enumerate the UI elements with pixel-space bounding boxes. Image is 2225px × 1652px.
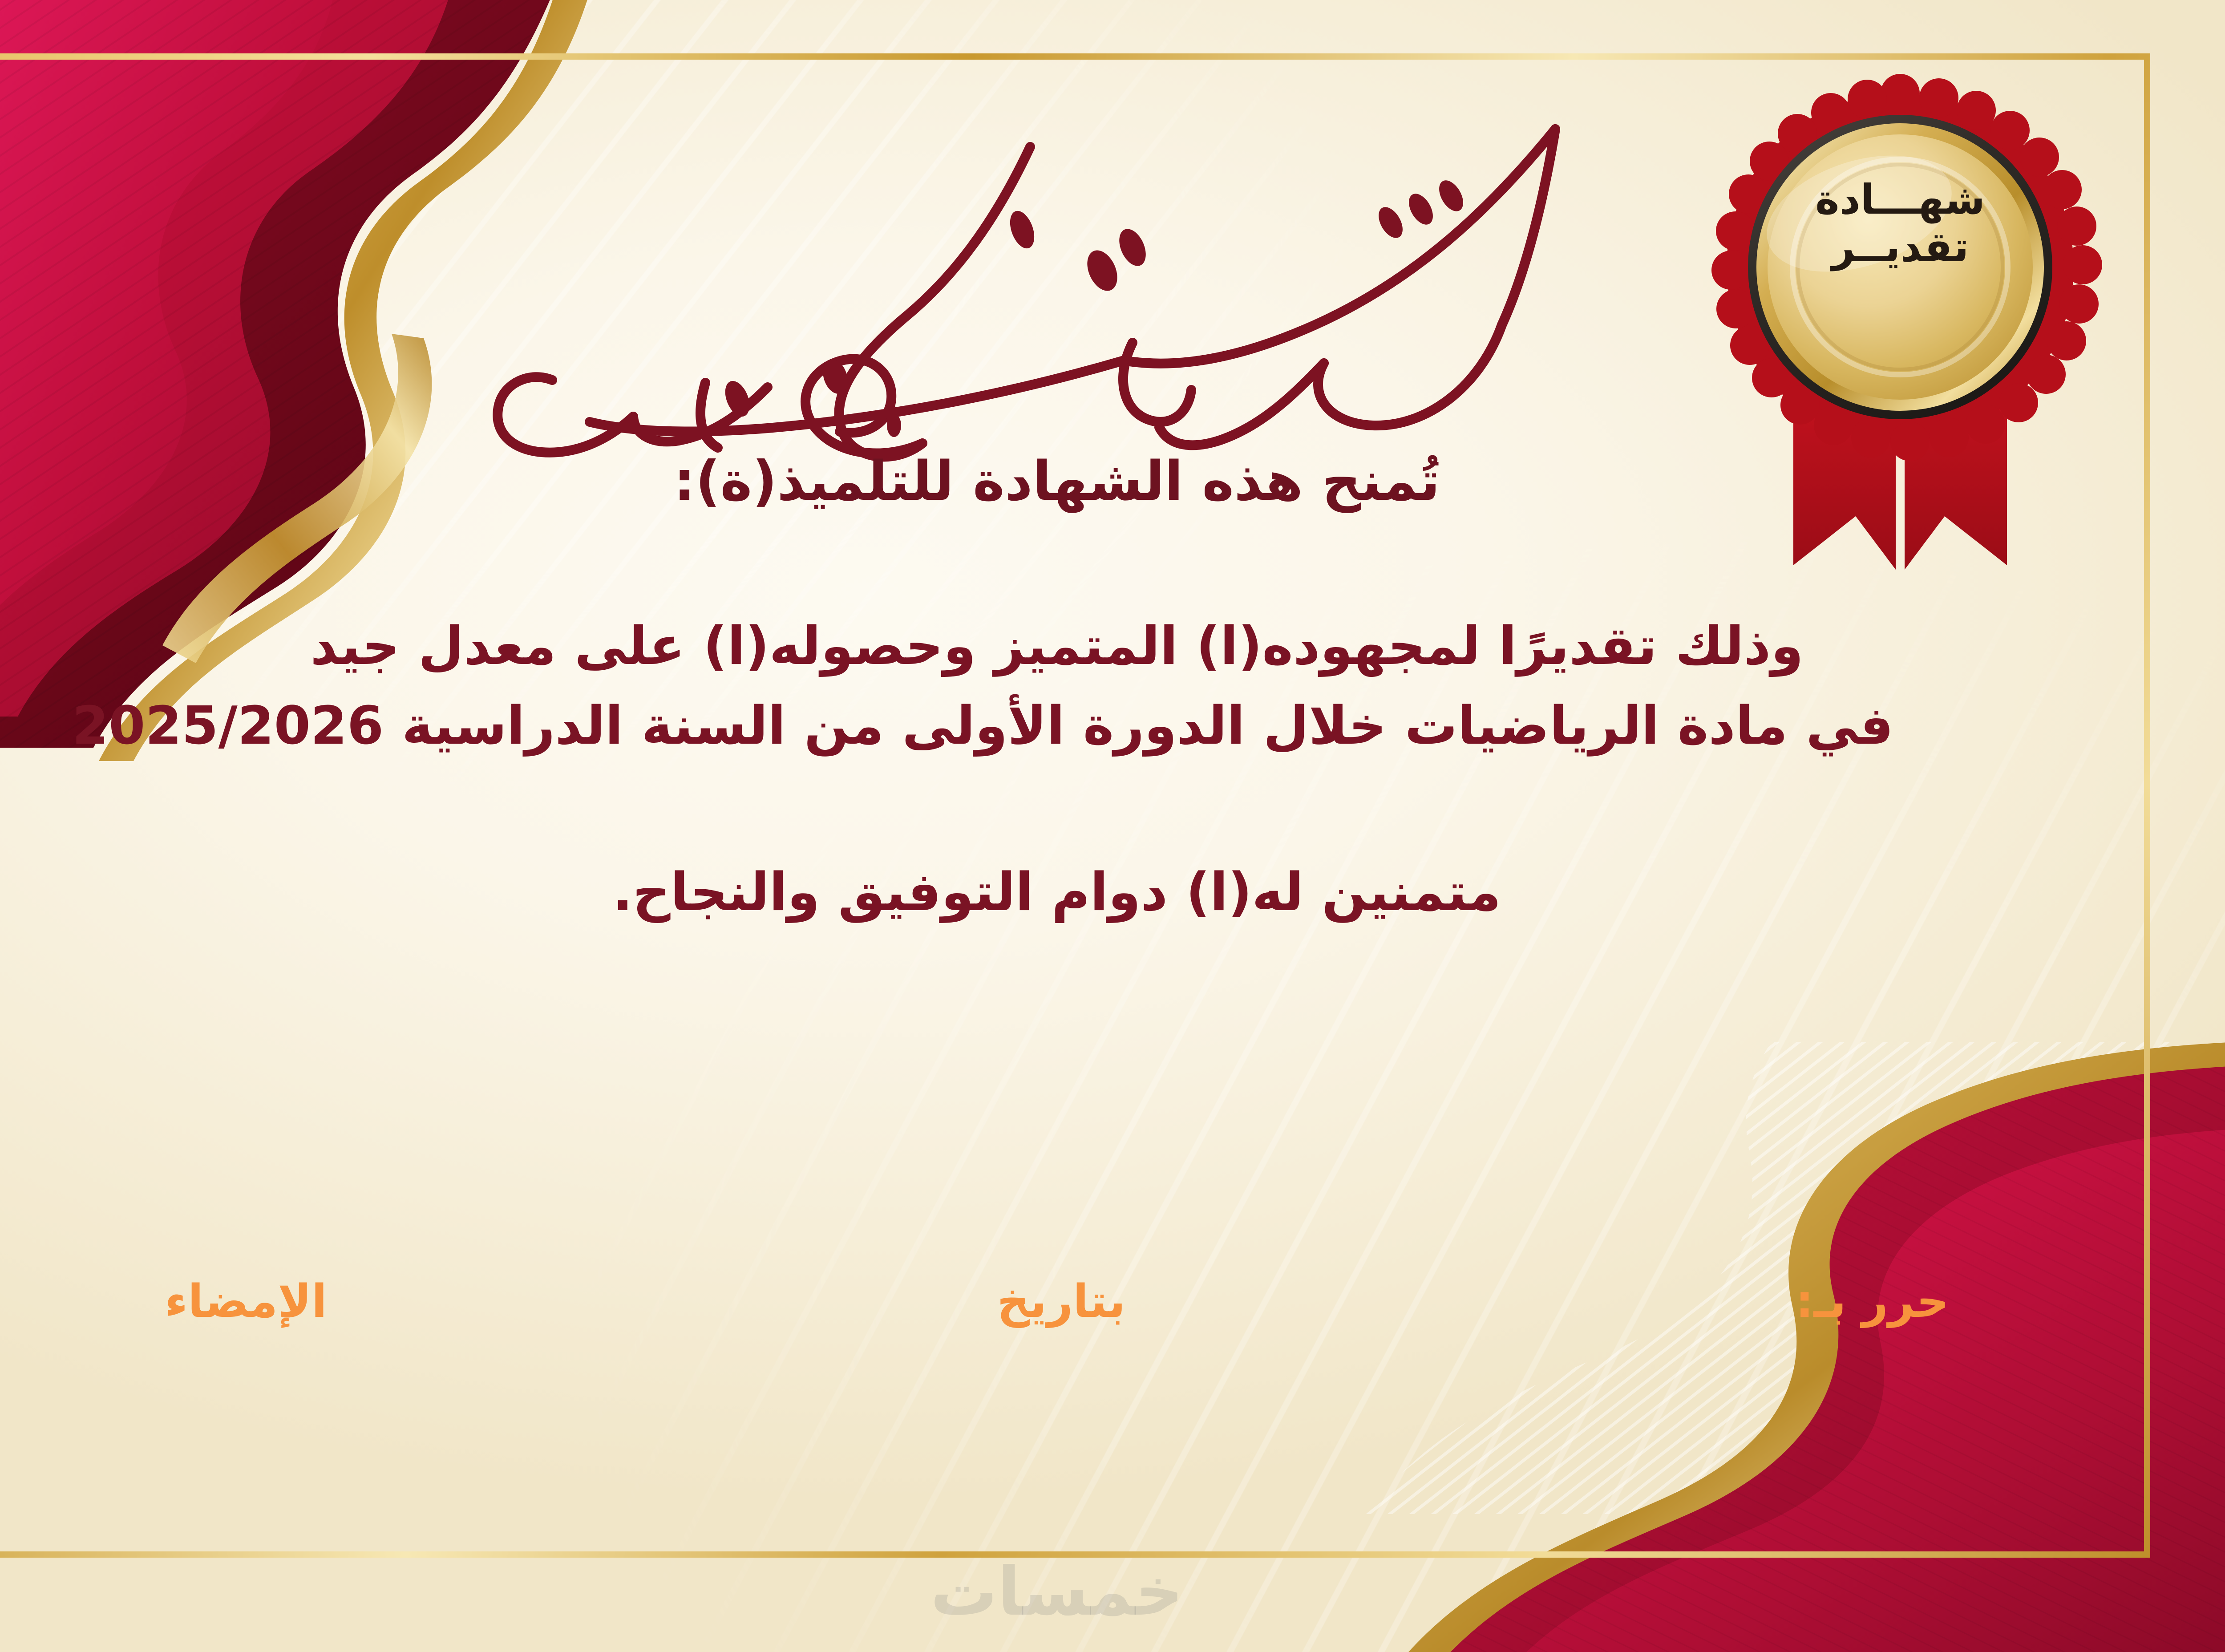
body-line-1: وذلك تقديرًا لمجهوده(ا) المتميز وحصوله(ا… — [220, 606, 1893, 686]
closing-wish: متمنين له(ا) دوام التوفيق والنجاح. — [613, 861, 1501, 923]
signature-label[interactable]: الإمضاء — [165, 1275, 327, 1328]
body-line-2: في مادة الرياضيات خلال الدورة الأولى من … — [220, 686, 1893, 765]
body-paragraph: وذلك تقديرًا لمجهوده(ا) المتميز وحصوله(ا… — [220, 606, 1893, 766]
date-label[interactable]: بتاريخ — [997, 1275, 1126, 1328]
shukr-wa-taqdeer-calligraphy — [456, 76, 1658, 467]
place-label[interactable]: حرر بـ: — [1796, 1275, 1949, 1328]
award-statement: تُمنح هذه الشهادة للتلميذ(ة): — [674, 449, 1440, 513]
appreciation-seal: شهـــادة تقديــر — [1673, 71, 2127, 596]
certificate-page: تُمنح هذه الشهادة للتلميذ(ة): وذلك تقدير… — [0, 0, 2225, 1652]
seal-graphic — [1673, 71, 2127, 596]
footer-labels-row: حرر بـ: بتاريخ الإمضاء — [0, 1275, 2225, 1328]
calligraphy-title — [456, 76, 1658, 467]
